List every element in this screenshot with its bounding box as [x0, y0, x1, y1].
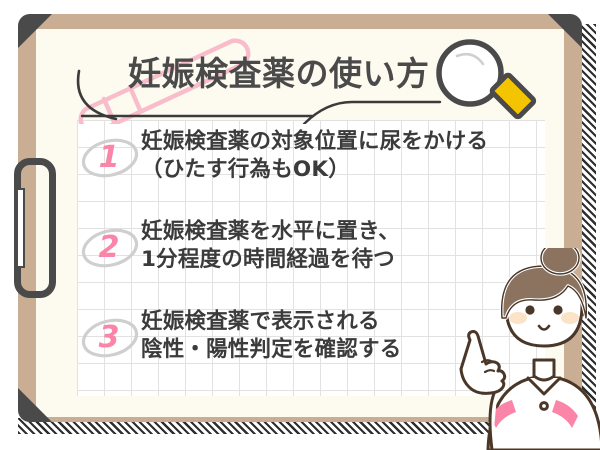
- step-number: 2: [77, 226, 141, 270]
- magnifying-glass-icon: [439, 42, 535, 118]
- nurse-character-illustration: [440, 248, 600, 450]
- step-number-badge: 2: [77, 218, 141, 276]
- step-number: 1: [77, 136, 141, 180]
- title-curve-right-icon: [304, 102, 440, 124]
- corner-fold-top-left-icon: [18, 14, 52, 48]
- infographic-screen: 妊娠検査薬の使い方 1 妊娠検査薬の対象位置に尿をかける （ひたす行為もOK） …: [0, 0, 600, 450]
- step-line: 陰性・陽性判定を確認する: [141, 336, 401, 364]
- step-line: （ひたす行為もOK）: [141, 156, 488, 184]
- clipboard-clip-bar-icon: [16, 188, 25, 268]
- step-number: 3: [77, 316, 141, 360]
- step-number-badge: 3: [77, 308, 141, 366]
- step-text: 妊娠検査薬の対象位置に尿をかける （ひたす行為もOK）: [141, 126, 488, 185]
- corner-fold-bottom-left-icon: [18, 388, 52, 422]
- title-zone: 妊娠検査薬の使い方: [36, 29, 564, 121]
- step-line: 妊娠検査薬を水平に置き、: [141, 218, 400, 246]
- step-line: 1分程度の時間経過を待つ: [141, 246, 400, 274]
- corner-fold-top-right-icon: [548, 14, 582, 48]
- step-text: 妊娠検査薬を水平に置き、 1分程度の時間経過を待つ: [141, 216, 400, 275]
- step-item: 1 妊娠検査薬の対象位置に尿をかける （ひたす行為もOK）: [77, 126, 547, 216]
- page-title: 妊娠検査薬の使い方: [128, 47, 430, 95]
- step-number-badge: 1: [77, 128, 141, 186]
- step-line: 妊娠検査薬で表示される: [141, 308, 401, 336]
- step-line: 妊娠検査薬の対象位置に尿をかける: [141, 128, 488, 156]
- step-text: 妊娠検査薬で表示される 陰性・陽性判定を確認する: [141, 306, 401, 365]
